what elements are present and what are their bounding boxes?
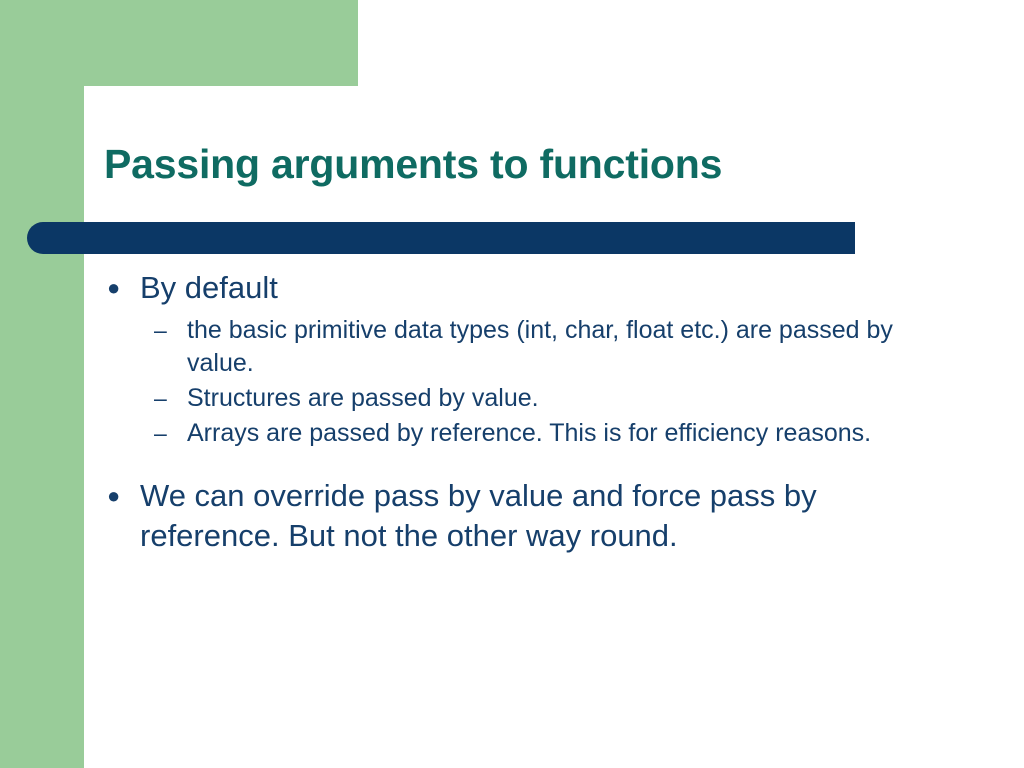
bullet-disc-icon: ● (104, 268, 140, 308)
dash-marker-icon: – (154, 417, 187, 450)
bullet-disc-icon: ● (104, 476, 140, 516)
bullet-label: We can override pass by value and force … (140, 476, 900, 556)
sub-bullet-label: Structures are passed by value. (187, 382, 939, 415)
green-left-column-decoration (0, 0, 84, 768)
slide-body: ● By default – the basic primitive data … (104, 268, 984, 558)
body-spacer (104, 460, 984, 476)
slide-title: Passing arguments to functions (104, 140, 964, 188)
dash-marker-icon: – (154, 382, 187, 415)
sub-bullet-label: the basic primitive data types (int, cha… (187, 314, 939, 380)
sub-bullet-item-primitive-types: – the basic primitive data types (int, c… (104, 314, 984, 380)
sub-bullet-list-by-default: – the basic primitive data types (int, c… (104, 314, 984, 450)
bullet-label: By default (140, 268, 900, 308)
navy-accent-bar-decoration (27, 222, 855, 254)
slide-canvas: Passing arguments to functions ● By defa… (0, 0, 1024, 768)
bullet-item-override-pass-by-value: ● We can override pass by value and forc… (104, 476, 984, 556)
dash-marker-icon: – (154, 314, 187, 347)
sub-bullet-item-arrays: – Arrays are passed by reference. This i… (104, 417, 984, 450)
bullet-item-by-default: ● By default (104, 268, 984, 308)
sub-bullet-item-structures: – Structures are passed by value. (104, 382, 984, 415)
sub-bullet-label: Arrays are passed by reference. This is … (187, 417, 939, 450)
